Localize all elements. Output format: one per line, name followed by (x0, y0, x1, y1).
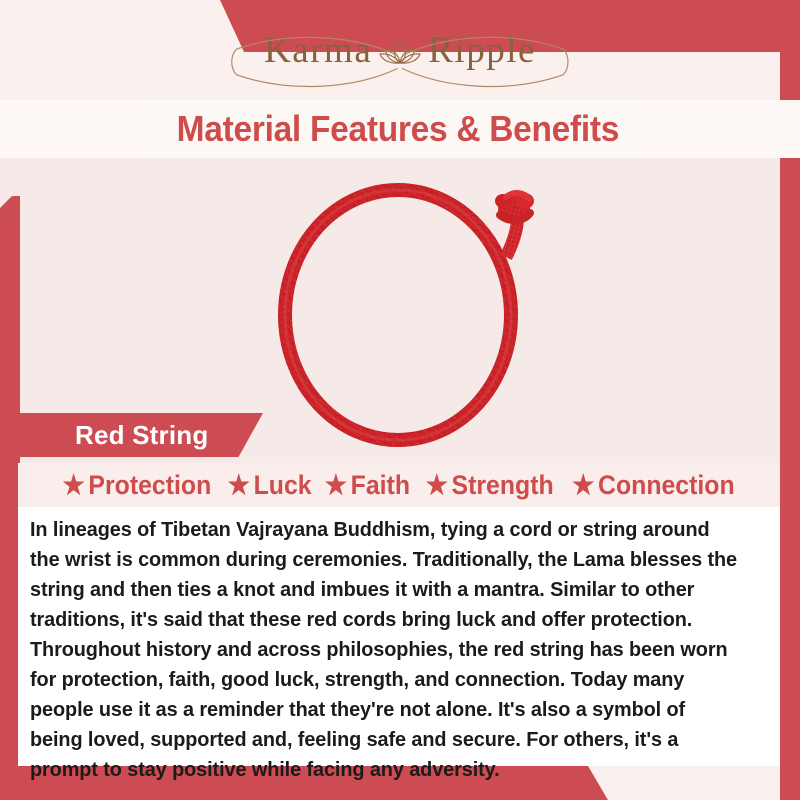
star-icon: ★ (228, 472, 250, 499)
benefit-item-luck: ★ Luck (228, 470, 312, 501)
description-text: In lineages of Tibetan Vajrayana Buddhis… (30, 515, 742, 785)
section-banner: Red String (18, 413, 263, 457)
benefit-item-strength: ★ Strength (425, 470, 553, 501)
brand-header: Karma Ripple (0, 0, 800, 100)
benefit-label: Strength (451, 470, 553, 501)
lotus-icon (378, 33, 422, 67)
star-icon: ★ (572, 472, 594, 499)
benefits-row: ★ Protection ★ Luck ★ Faith ★ Strength ★… (18, 463, 780, 507)
bracelet-product-image (248, 175, 548, 460)
brand-name-left: Karma (264, 32, 372, 69)
page-title: Material Features & Benefits (176, 108, 618, 150)
decor-left-bar (0, 196, 20, 800)
benefit-item-connection: ★ Connection (572, 470, 735, 501)
benefit-label: Faith (351, 470, 410, 501)
brand-name-right: Ripple (428, 32, 536, 69)
star-icon: ★ (325, 472, 347, 499)
benefit-item-faith: ★ Faith (325, 470, 410, 501)
red-string-bracelet-illustration (248, 175, 548, 460)
benefit-label: Luck (254, 470, 312, 501)
infographic-page: Karma Ripple Material Features & Benefit… (0, 0, 800, 800)
benefit-label: Connection (598, 470, 735, 501)
benefit-label: Protection (89, 470, 212, 501)
brand-logo: Karma Ripple (254, 32, 546, 69)
section-banner-label: Red String (18, 420, 208, 451)
star-icon: ★ (63, 472, 85, 499)
page-title-container: Material Features & Benefits (155, 100, 640, 158)
star-icon: ★ (425, 472, 447, 499)
description-panel: In lineages of Tibetan Vajrayana Buddhis… (18, 507, 780, 766)
benefit-item-protection: ★ Protection (63, 470, 212, 501)
